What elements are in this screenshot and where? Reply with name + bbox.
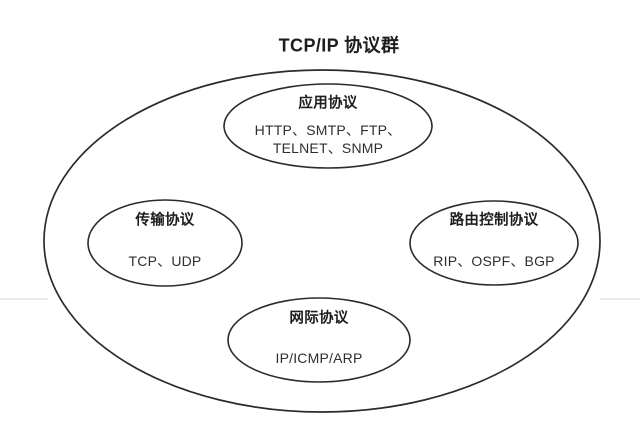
node-ellipse-transport-protocol xyxy=(88,200,242,286)
diagram-canvas: TCP/IP 协议群应用协议HTTP、SMTP、FTP、 TELNET、SNMP… xyxy=(0,0,640,440)
diagram-shapes-layer xyxy=(0,0,640,440)
node-ellipse-application-protocol xyxy=(224,84,432,168)
node-ellipse-internet-protocol xyxy=(228,298,410,382)
node-ellipse-routing-control-protocol xyxy=(410,201,578,285)
